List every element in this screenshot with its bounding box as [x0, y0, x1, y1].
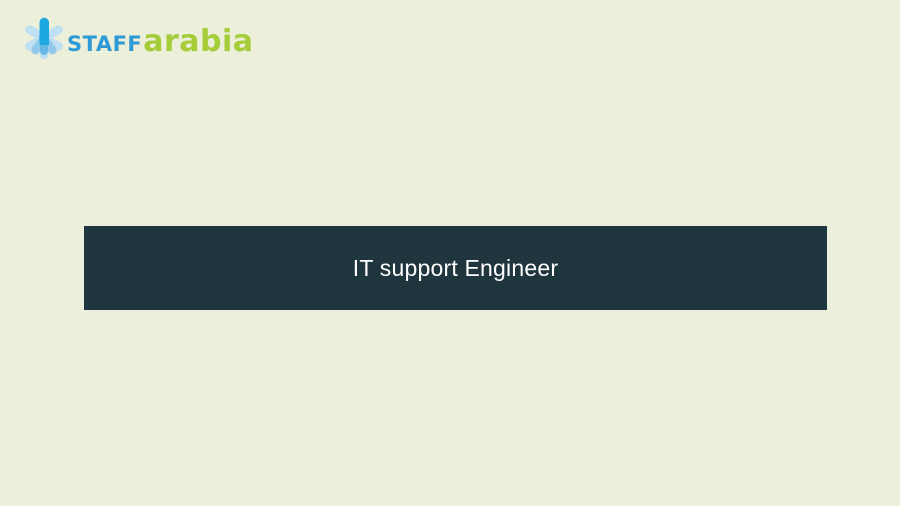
snowflake-asterisk-icon [20, 14, 68, 62]
brand-wordmark: STAFFarabia [67, 22, 254, 62]
title-banner: IT support Engineer [84, 226, 827, 310]
page-title: IT support Engineer [353, 255, 558, 282]
brand-wordmark-arabia: arabia [143, 24, 253, 59]
brand-wordmark-staff: STAFF [67, 24, 142, 59]
slide-canvas: STAFFarabia IT support Engineer [0, 0, 900, 506]
brand-logo[interactable]: STAFFarabia [20, 14, 280, 66]
